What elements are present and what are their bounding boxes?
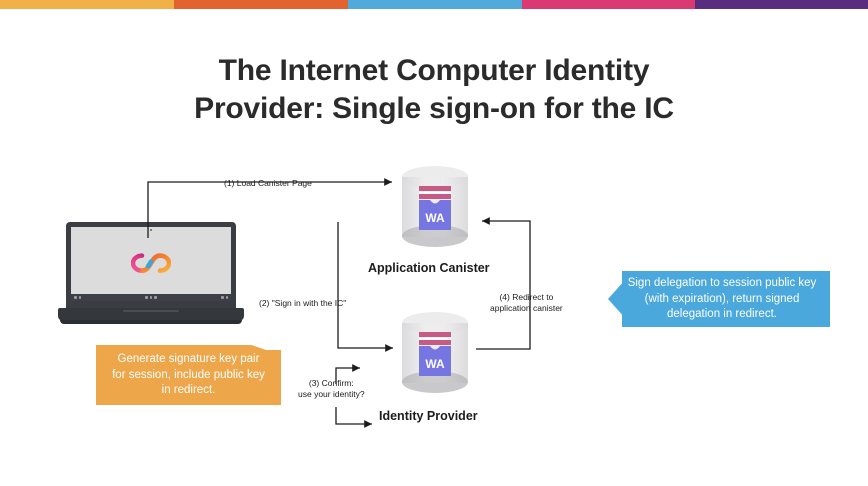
flow-label-3: (3) Confirm: use your identity? [298,378,365,400]
callout-session-key-line-2: for session, include public key [104,368,273,384]
canister-glass-shade [402,323,468,383]
taskbar-icon [145,296,148,299]
slide-title-line-1: The Internet Computer Identity [0,52,868,90]
callout-delegation-line-2: (with expiration), return signed [620,292,824,308]
webcam-icon [150,229,152,231]
laptop-lid [66,222,236,310]
application-canister-label: Application Canister [368,261,490,275]
callout-session-key: Generate signature key pair for session,… [96,345,281,405]
taskbar-icon [150,296,153,299]
arrow-redirect-to-application-canister [476,221,530,349]
topbar-segment-pink [522,0,695,9]
taskbar-icon [154,296,157,299]
flow-label-3-line-2: use your identity? [298,389,365,400]
callout-session-key-line-3: in redirect. [104,383,273,399]
topbar-segment-purple [695,0,868,9]
flow-label-2: (2) "Sign in with the IC" [259,298,346,309]
taskbar-icon [226,296,229,299]
identity-provider-label: Identity Provider [379,409,478,423]
taskbar-icon [79,296,82,299]
flow-label-4-line-2: application canister [490,303,563,314]
slide-canvas: The Internet Computer Identity Provider:… [0,0,868,486]
slide-title-line-2: Provider: Single sign-on for the IC [0,90,868,128]
taskbar-icon [221,296,224,299]
laptop-screen [71,227,231,301]
callout-delegation: Sign delegation to session public key (w… [608,271,830,327]
user-browser-laptop [58,222,244,327]
topbar-segment-orange [174,0,348,9]
internet-computer-infinity-logo [131,253,171,274]
top-color-bar [0,0,868,9]
flow-label-1: (1) Load Canister Page [224,178,312,189]
callout-delegation-line-3: delegation in redirect. [620,307,824,323]
identity-provider-canister-icon: WA [402,312,468,394]
application-canister-icon: WA [402,166,468,248]
arrow-confirm-identity-down [336,407,372,424]
browser-taskbar [71,294,231,301]
topbar-segment-blue [348,0,522,9]
arrow-sign-in-with-ic [338,222,393,348]
topbar-segment-amber [0,0,174,9]
laptop-foot [60,320,242,324]
flow-label-3-line-1: (3) Confirm: [298,378,365,389]
flow-label-4: (4) Redirect to application canister [490,292,563,314]
callout-delegation-line-1: Sign delegation to session public key [620,276,824,292]
flow-label-2-line-1: (2) "Sign in with the IC" [259,298,346,309]
flow-label-1-line-1: (1) Load Canister Page [224,178,312,189]
canister-glass-shade [402,177,468,237]
slide-title: The Internet Computer Identity Provider:… [0,52,868,128]
flow-label-4-line-1: (4) Redirect to [490,292,563,303]
taskbar-icon [74,296,77,299]
callout-session-key-line-1: Generate signature key pair [104,352,273,368]
